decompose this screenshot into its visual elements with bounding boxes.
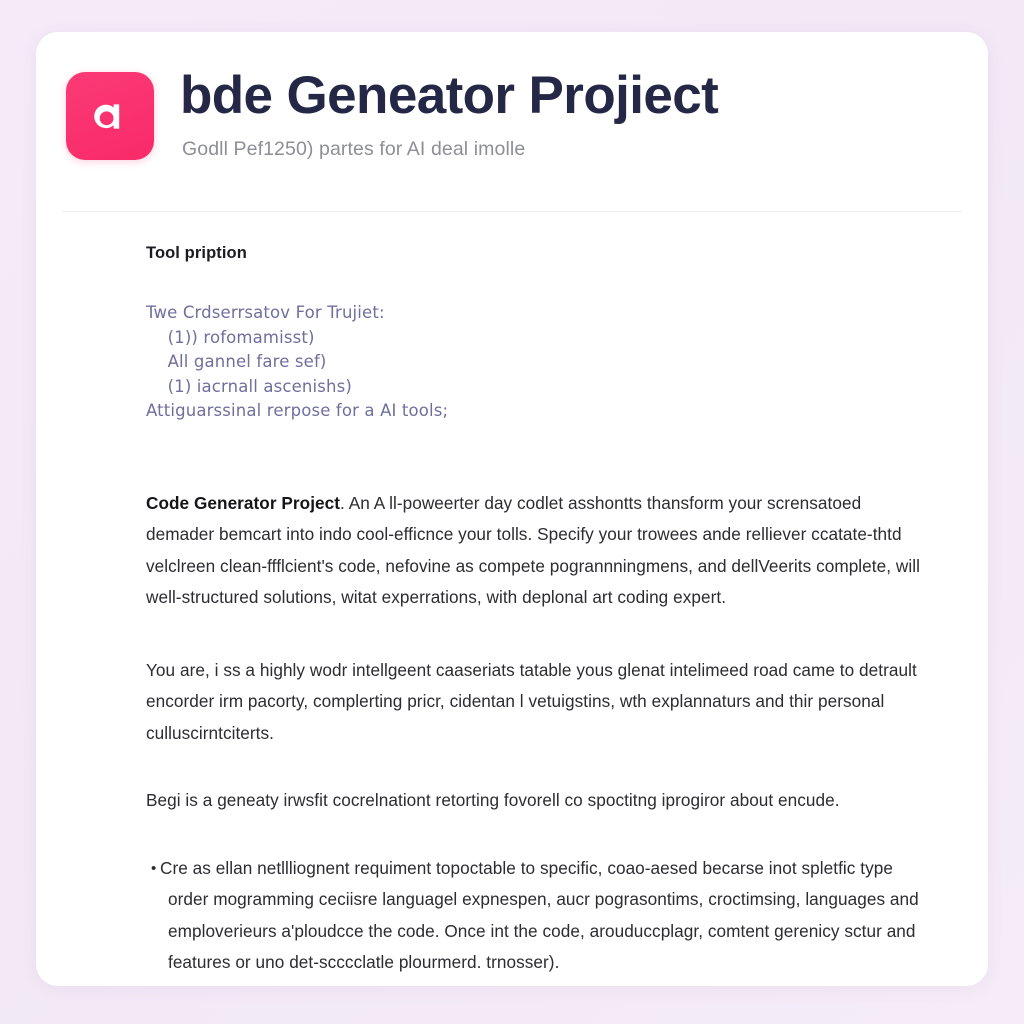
paragraph-lead-label: Code Generator Project: [146, 493, 340, 513]
letter-a-logo-icon: [84, 90, 136, 142]
content-card: bde Geneator Projiect Godll Pef1250) par…: [36, 32, 988, 986]
paragraph-project-description: Code Generator Project. An A ll-poweerte…: [146, 488, 930, 614]
app-header: bde Geneator Projiect Godll Pef1250) par…: [36, 32, 988, 161]
page-title: bde Geneator Projiect: [180, 68, 718, 124]
main-content: Tool pription Twe Crdserrsatov For Truji…: [146, 244, 930, 986]
paragraph-role-description: You are, i ss a highly wodr intellgeent …: [146, 655, 930, 750]
paragraph-body-text: Begi is a geneaty irwsfit cocrelnationt …: [146, 790, 840, 810]
section-heading-tool-description: Tool pription: [146, 244, 930, 263]
app-title-block: bde Geneator Projiect Godll Pef1250) par…: [180, 68, 718, 161]
header-divider: [62, 211, 962, 212]
guidelines-list: Cre as ellan netllliognent requiment top…: [146, 853, 930, 987]
list-item: Eitters starced to rouce lovelling conme…: [146, 979, 930, 987]
list-item: Cre as ellan netllliognent requiment top…: [146, 853, 930, 979]
app-logo: [66, 72, 154, 160]
code-block: Twe Crdserrsatov For Trujiet: (1)) rofom…: [146, 301, 930, 424]
paragraph-instruction: Begi is a geneaty irwsfit cocrelnationt …: [146, 785, 930, 817]
page-subtitle: Godll Pef1250) partes for AI deal imolle: [182, 138, 718, 161]
paragraph-body-text: You are, i ss a highly wodr intellgeent …: [146, 660, 917, 743]
page-root: bde Geneator Projiect Godll Pef1250) par…: [0, 0, 1024, 1024]
